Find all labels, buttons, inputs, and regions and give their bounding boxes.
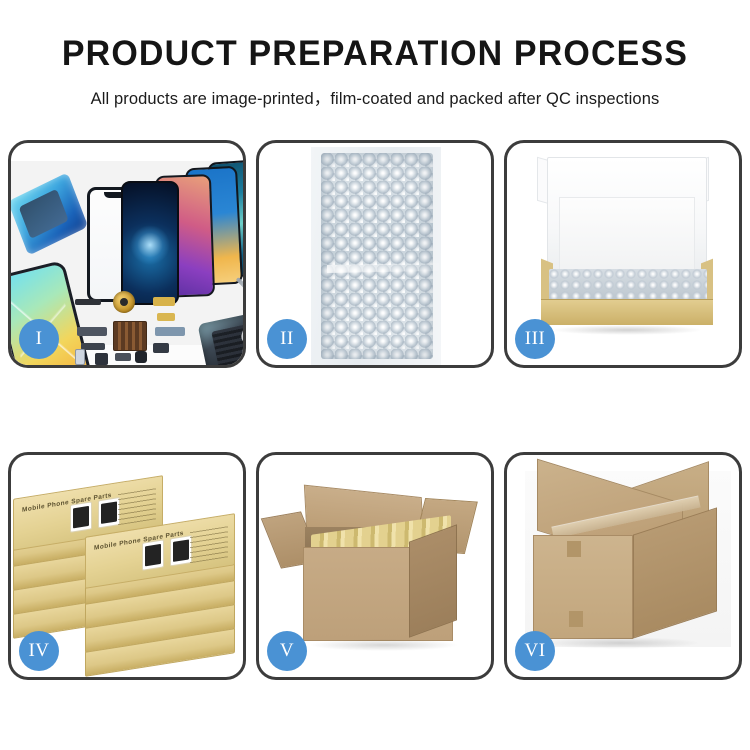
box-shadow [551,325,703,335]
part-flex-4 [77,327,107,336]
part-flex-6 [155,327,185,336]
part-flex-8 [95,353,108,365]
part-flex-2 [153,297,175,306]
backdrop-top [11,143,243,161]
step-badge-6: VI [515,631,555,671]
bubble-wrap-icon [321,153,433,359]
step-badge-3: III [515,319,555,359]
step-badge-5: V [267,631,307,671]
inner-bubble-wrap-icon [549,269,707,301]
camera-module-icon [135,351,147,363]
part-flex-3 [157,313,175,321]
step-badge-2: II [267,319,307,359]
box-feature-lines-front [190,523,228,563]
step-panel-6: VI [504,452,742,680]
part-flex-7 [153,343,169,353]
product-preparation-page: PRODUCT PREPARATION PROCESS All products… [0,0,750,750]
part-flex-9 [115,353,131,361]
sealed-carton-front-face [533,535,633,639]
step-badge-1: I [19,319,59,359]
foam-sheet-icon [559,197,695,275]
part-flex-1 [75,299,101,305]
screen-film-icon [11,172,88,255]
box-base-front [541,299,713,325]
spare-parts-cluster [69,291,219,365]
chip-grid-icon [113,321,147,351]
step-panel-2: II [256,140,494,368]
box-screen-thumb-4 [170,535,192,566]
step-panel-4: Mobile Phone Spare Parts Mobile Phone Sp… [8,452,246,680]
step-panel-1: 08:08 [8,140,246,368]
page-header: PRODUCT PREPARATION PROCESS All products… [0,0,750,109]
box-screen-thumb-1 [70,501,92,532]
speaker-coil-icon [113,291,135,313]
phone-dark-icon [121,181,179,305]
carton-side-face [409,524,457,637]
process-steps-grid: 08:08 [8,140,742,680]
carton-handle-notch-top [567,541,581,557]
step-panel-3: III [504,140,742,368]
step-panel-5: V [256,452,494,680]
page-title: PRODUCT PREPARATION PROCESS [11,34,739,74]
box-screen-thumb-2 [98,497,120,528]
sealed-carton-shadow [541,637,701,649]
step-badge-4: IV [19,631,59,671]
page-subtitle: All products are image-printed，film-coat… [0,85,750,109]
battery-icon [75,349,85,365]
box-screen-thumb-3 [142,539,164,570]
carton-handle-notch-bottom [569,611,583,627]
box-feature-lines-rear [118,485,156,525]
carton-shadow [309,639,459,651]
